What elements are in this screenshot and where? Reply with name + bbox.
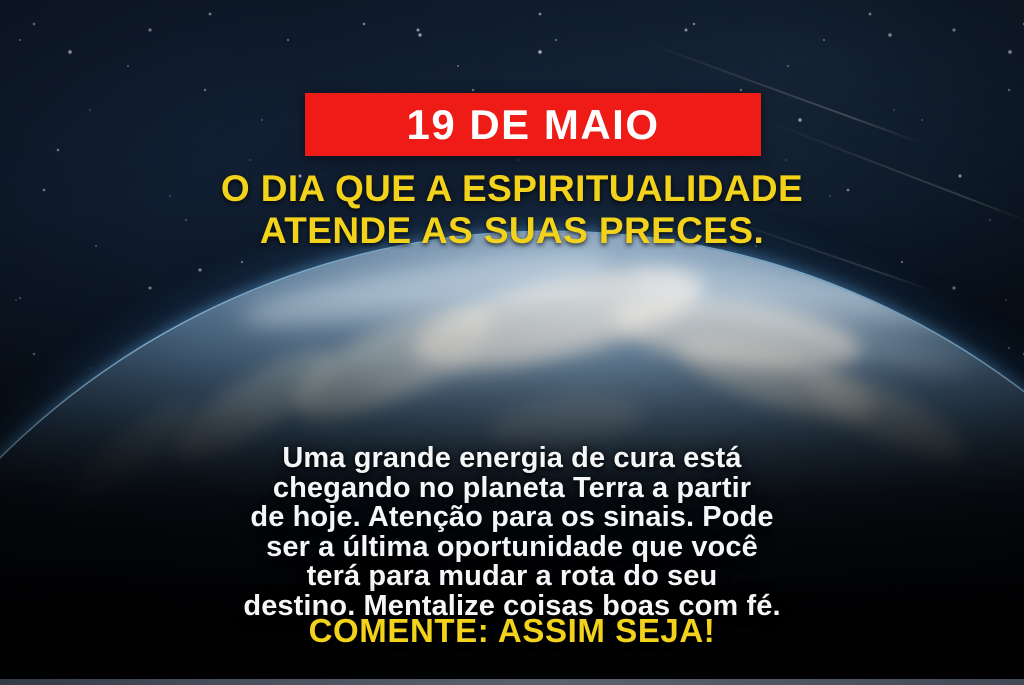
body-line-1: Uma grande energia de cura está [0,444,1024,474]
poster-content: 19 DE MAIO O DIA QUE A ESPIRITUALIDADE A… [0,0,1024,685]
date-banner-text: 19 DE MAIO [406,104,659,146]
body-line-5: terá para mudar a rota do seu [0,562,1024,592]
headline: O DIA QUE A ESPIRITUALIDADE ATENDE AS SU… [0,168,1024,252]
poster-image: 19 DE MAIO O DIA QUE A ESPIRITUALIDADE A… [0,0,1024,685]
bottom-edge-strip [0,679,1024,685]
body-copy: Uma grande energia de cura está chegando… [0,444,1024,621]
headline-line-1: O DIA QUE A ESPIRITUALIDADE [0,168,1024,210]
call-to-action-text: COMENTE: ASSIM SEJA! [0,612,1024,650]
body-line-3: de hoje. Atenção para os sinais. Pode [0,503,1024,533]
body-line-2: chegando no planeta Terra a partir [0,474,1024,504]
body-line-4: ser a última oportunidade que você [0,533,1024,563]
date-banner: 19 DE MAIO [305,93,761,156]
headline-line-2: ATENDE AS SUAS PRECES. [0,210,1024,252]
